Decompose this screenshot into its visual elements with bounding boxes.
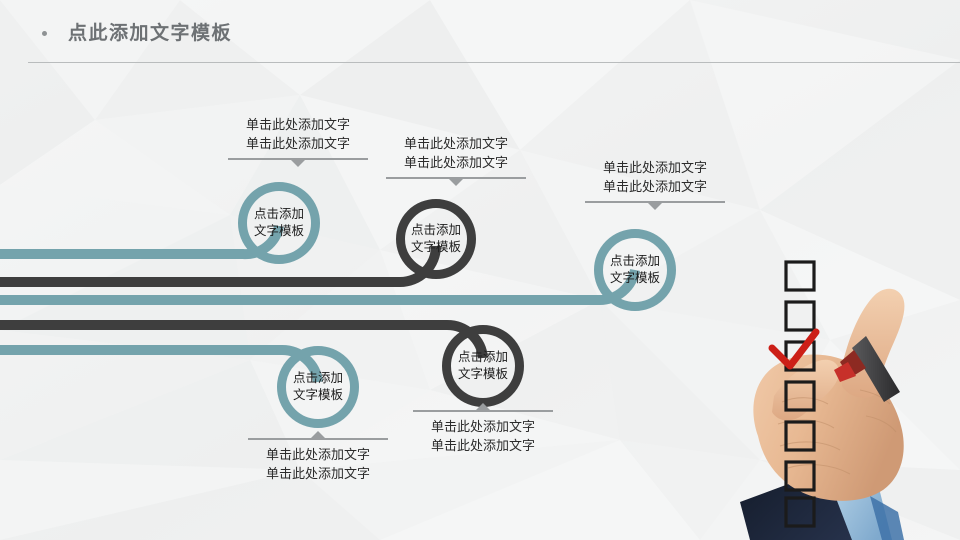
node-caption-pointer-5 [476, 403, 490, 410]
ribbon-band-1 [0, 226, 279, 254]
node-circle-label-3: 点击添加 文字模板 [603, 253, 667, 287]
ribbon-band-5 [0, 350, 318, 382]
node-caption-rule-5 [413, 410, 553, 412]
slide-canvas: 点此添加文字模板 点击添加 文字模板 点击添加 文字模板 点击添加 文字模板 点… [0, 0, 960, 540]
node-circle-3[interactable]: 点击添加 文字模板 [594, 229, 676, 311]
node-caption-text-3: 单击此处添加文字 单击此处添加文字 [575, 158, 735, 196]
node-caption-text-2: 单击此处添加文字 单击此处添加文字 [376, 134, 536, 172]
node-caption-pointer-3 [648, 203, 662, 210]
node-caption-text-1: 单击此处添加文字 单击此处添加文字 [218, 115, 378, 153]
node-caption-5[interactable]: 单击此处添加文字 单击此处添加文字 [403, 403, 563, 455]
hand-with-marker-photo [730, 240, 960, 540]
node-circle-5[interactable]: 点击添加 文字模板 [442, 325, 524, 407]
node-caption-rule-4 [248, 438, 388, 440]
node-caption-pointer-1 [291, 160, 305, 167]
node-circle-4[interactable]: 点击添加 文字模板 [277, 346, 359, 428]
node-circle-label-1: 点击添加 文字模板 [247, 206, 311, 240]
node-circle-label-4: 点击添加 文字模板 [286, 370, 350, 404]
node-caption-1[interactable]: 单击此处添加文字 单击此处添加文字 [218, 115, 378, 167]
node-circle-1[interactable]: 点击添加 文字模板 [238, 182, 320, 264]
node-circle-label-5: 点击添加 文字模板 [451, 349, 515, 383]
node-circle-2[interactable]: 点击添加 文字模板 [396, 199, 476, 279]
node-caption-text-5: 单击此处添加文字 单击此处添加文字 [403, 417, 563, 455]
node-caption-4[interactable]: 单击此处添加文字 单击此处添加文字 [238, 431, 398, 483]
node-caption-2[interactable]: 单击此处添加文字 单击此处添加文字 [376, 134, 536, 186]
node-caption-pointer-4 [311, 431, 325, 438]
node-caption-3[interactable]: 单击此处添加文字 单击此处添加文字 [575, 158, 735, 210]
node-circle-label-2: 点击添加 文字模板 [405, 222, 467, 256]
node-caption-pointer-2 [449, 179, 463, 186]
node-caption-text-4: 单击此处添加文字 单击此处添加文字 [238, 445, 398, 483]
